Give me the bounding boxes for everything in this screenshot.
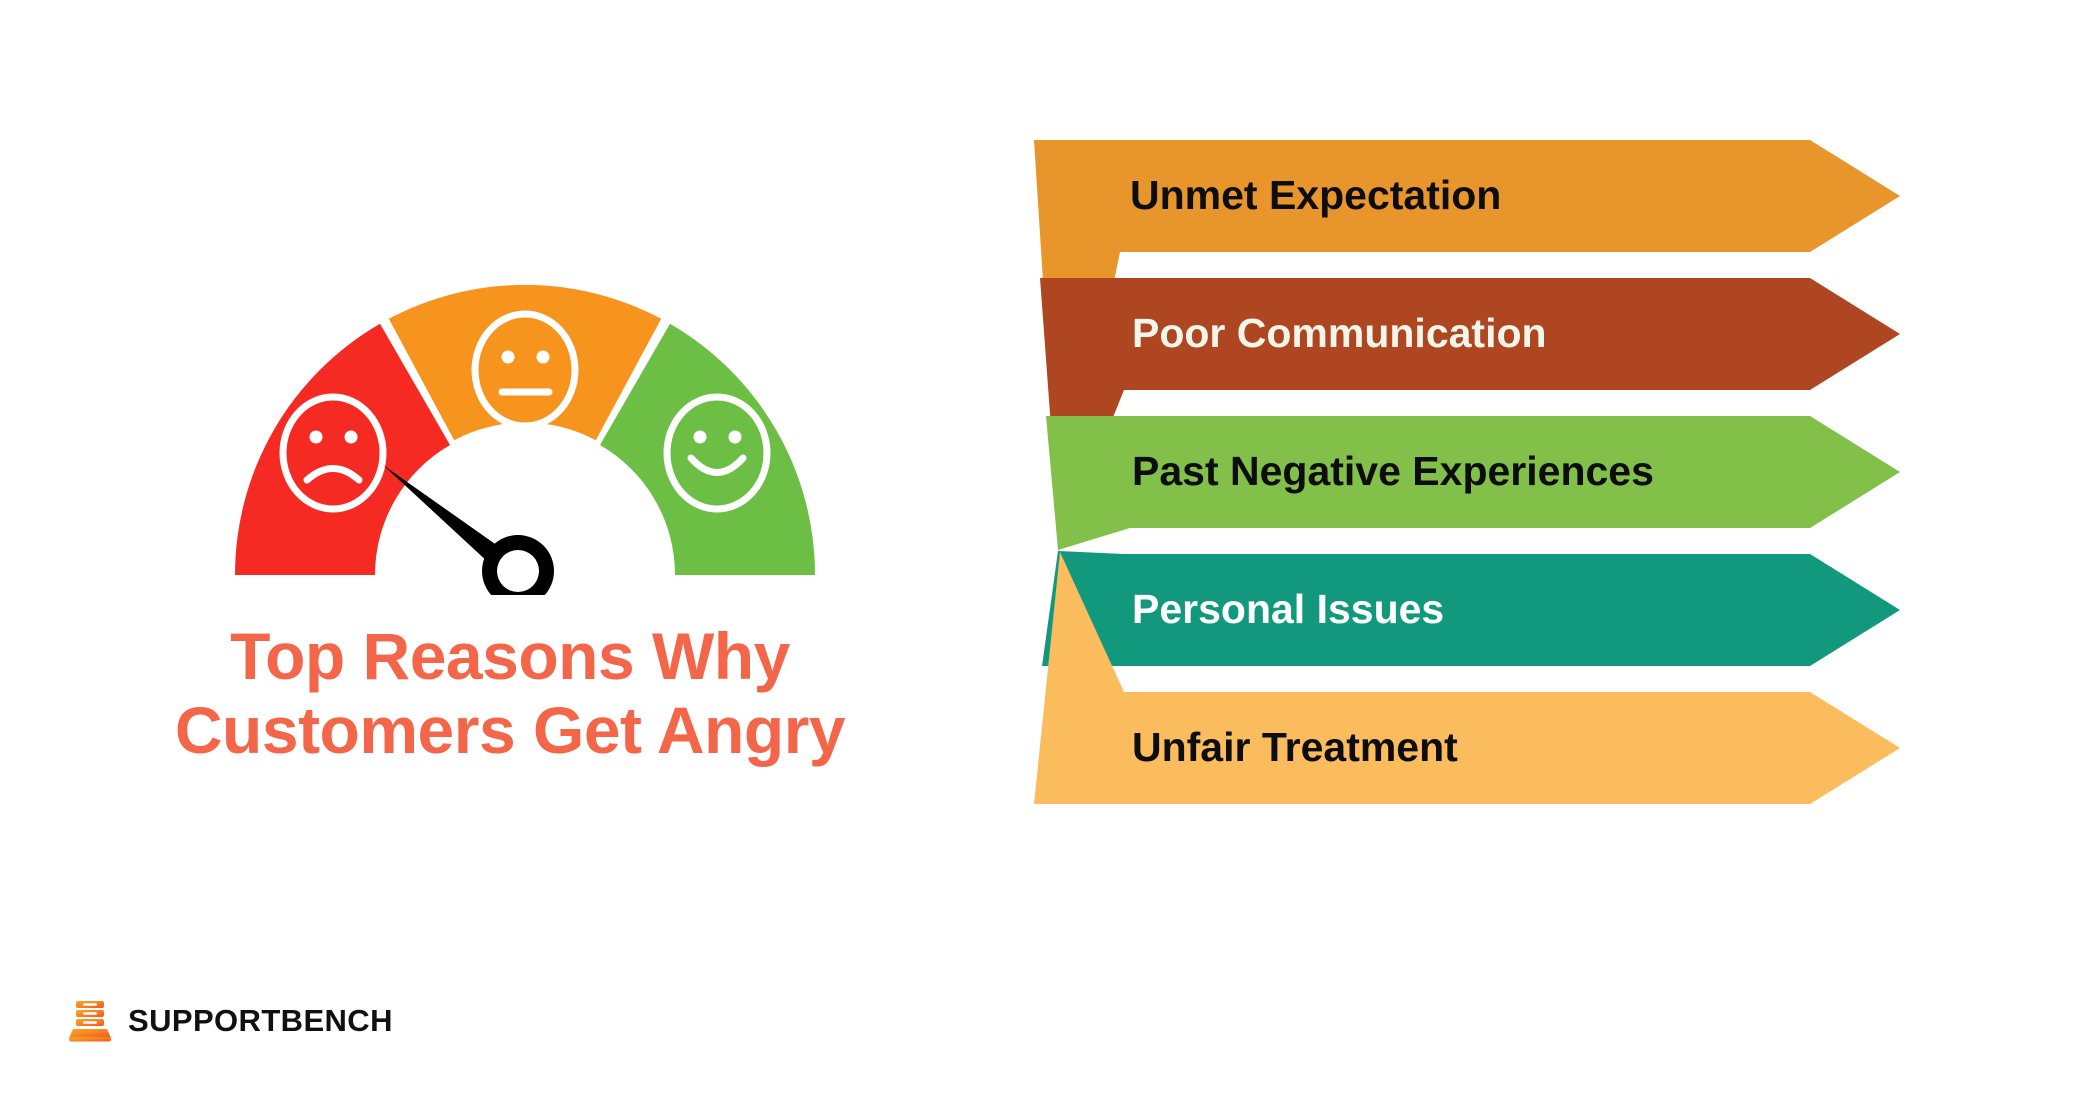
page-title-line-2: Customers Get Angry [60,694,960,768]
reasons-banner-fan: Unmet Expectation Poor Communication Pas… [1020,130,2020,950]
banner-label-poor-communication: Poor Communication [1132,310,1547,356]
banner-label-unmet-expectation: Unmet Expectation [1130,172,1501,218]
banner-label-unfair-treatment: Unfair Treatment [1132,724,1458,770]
customer-satisfaction-gauge [215,265,835,595]
page-title-line-1: Top Reasons Why [60,620,960,694]
page-title: Top Reasons Why Customers Get Angry [60,620,960,768]
logo-word-support: SUPPORT [128,1003,281,1038]
banner-label-personal-issues: Personal Issues [1132,586,1444,632]
logo-word-bench: BENCH [281,1003,393,1038]
gauge-and-title-panel: Top Reasons Why Customers Get Angry [0,0,1020,1097]
supportbench-logo[interactable]: SUPPORTBENCH [68,1000,393,1042]
supportbench-wordmark: SUPPORTBENCH [128,1003,393,1039]
banner-label-past-negative-experiences: Past Negative Experiences [1132,448,1654,494]
supportbench-bars-icon [68,1000,112,1042]
gauge-needle [383,465,554,595]
banner-past-negative-experiences[interactable]: Past Negative Experiences [1046,416,1900,550]
banner-personal-issues[interactable]: Personal Issues [1042,551,1900,666]
infographic-canvas: Top Reasons Why Customers Get Angry [0,0,2100,1097]
